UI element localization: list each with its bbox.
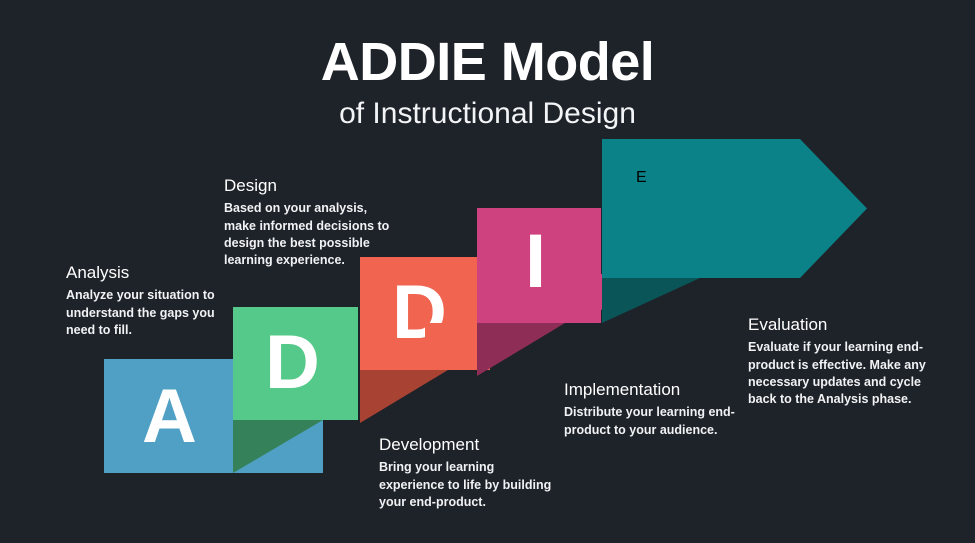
caption-development: Development Bring your learning experien…	[379, 434, 559, 511]
caption-evaluation-title: Evaluation	[748, 314, 928, 335]
caption-analysis-body: Analyze your situation to understand the…	[66, 287, 226, 339]
phase-shape-evaluation: E	[602, 139, 867, 278]
caption-design-title: Design	[224, 175, 394, 196]
phase-shape-design: D	[233, 307, 358, 420]
phase-fold-development	[360, 370, 448, 423]
caption-evaluation-body: Evaluate if your learning end-product is…	[748, 339, 928, 408]
phase-letter-implementation: I	[525, 224, 546, 300]
addie-model-infographic: ADDIE Model of Instructional Design A D …	[0, 0, 975, 543]
caption-design: Design Based on your analysis, make info…	[224, 175, 394, 269]
caption-design-body: Based on your analysis, make informed de…	[224, 200, 394, 269]
phase-letter-analysis: A	[142, 379, 197, 455]
caption-implementation-title: Implementation	[564, 379, 744, 400]
phase-fold-design	[233, 420, 323, 473]
caption-evaluation: Evaluation Evaluate if your learning end…	[748, 314, 928, 408]
arrow-right-icon	[602, 139, 867, 278]
caption-development-body: Bring your learning experience to life b…	[379, 459, 559, 511]
phase-letter-evaluation: E	[636, 169, 647, 187]
phase-letter-design: D	[265, 325, 320, 401]
caption-implementation: Implementation Distribute your learning …	[564, 379, 744, 439]
phase-fold-implementation	[477, 323, 565, 376]
caption-implementation-body: Distribute your learning end-product to …	[564, 404, 744, 439]
phase-fold-evaluation	[602, 278, 700, 323]
caption-analysis: Analysis Analyze your situation to under…	[66, 262, 226, 339]
caption-analysis-title: Analysis	[66, 262, 226, 283]
caption-development-title: Development	[379, 434, 559, 455]
